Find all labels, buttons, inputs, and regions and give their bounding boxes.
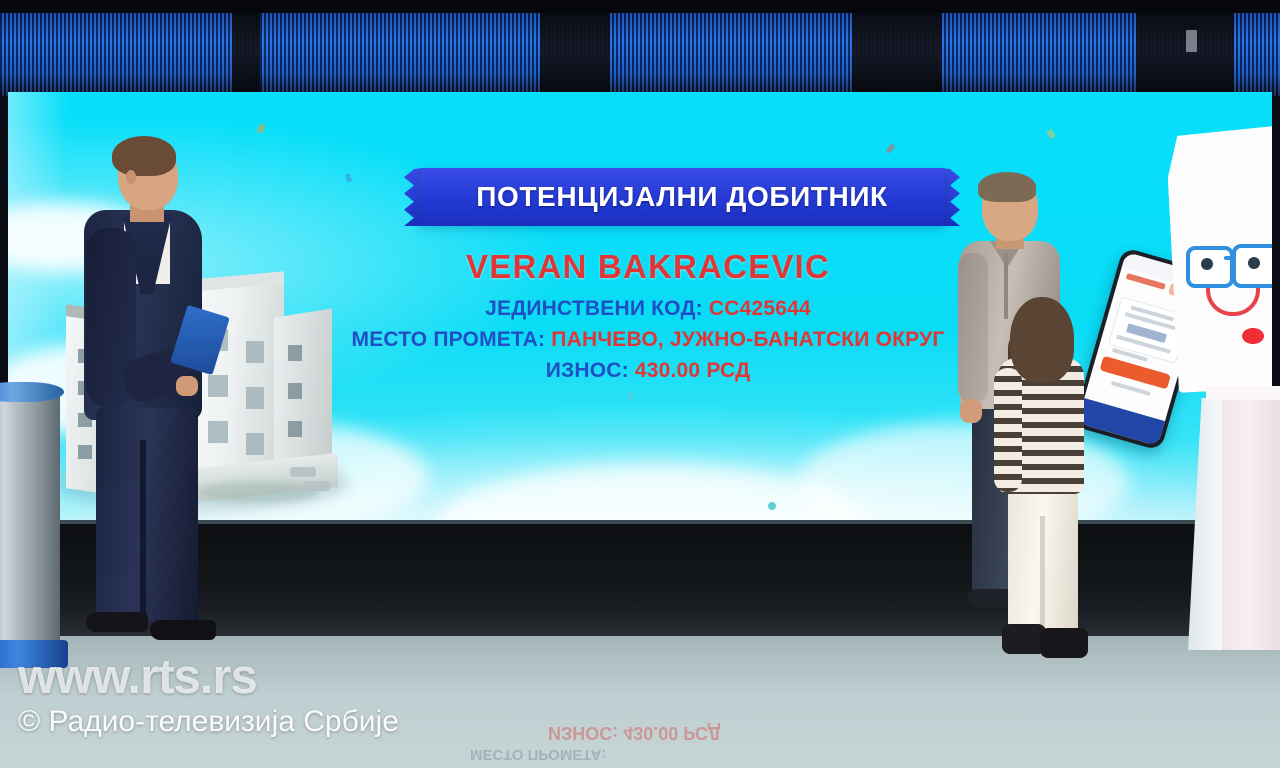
mascot-nose — [1242, 328, 1264, 344]
podium-left — [0, 392, 60, 654]
studio-door — [1186, 30, 1197, 52]
field-label-code: ЈЕДИНСТВЕНИ КОД: — [485, 297, 703, 320]
headline-ribbon: ПОТЕНЦИЈАЛНИ ДОБИТНИК — [404, 168, 960, 226]
host-presenter — [72, 140, 222, 660]
field-label-amount: ИЗНОС: — [546, 359, 629, 382]
floor-reflection-place: МЕСТО ПРОМЕТА: — [470, 746, 606, 763]
broadcast-frame: ПОТЕНЦИЈАЛНИ ДОБИТНИК VERAN BAKRACEVIC Ј… — [0, 0, 1280, 768]
podium-right — [1214, 398, 1280, 650]
field-value-amount: 430.00 РСД — [635, 359, 750, 382]
studio-backdrop — [0, 0, 1280, 96]
field-value-code: CC425644 — [709, 297, 811, 320]
receipt-mascot — [1172, 128, 1272, 428]
field-value-place: ПАНЧЕВО, ЈУЖНО-БАНАТСКИ ОКРУГ — [551, 328, 944, 351]
floor-reflection-amount: ИЗНОС: 430.00 РСД — [548, 722, 720, 743]
field-label-place: МЕСТО ПРОМЕТА: — [352, 328, 546, 351]
banner-label: ПОТЕНЦИЈАЛНИ ДОБИТНИК — [476, 181, 888, 213]
guest-child — [992, 302, 1092, 670]
